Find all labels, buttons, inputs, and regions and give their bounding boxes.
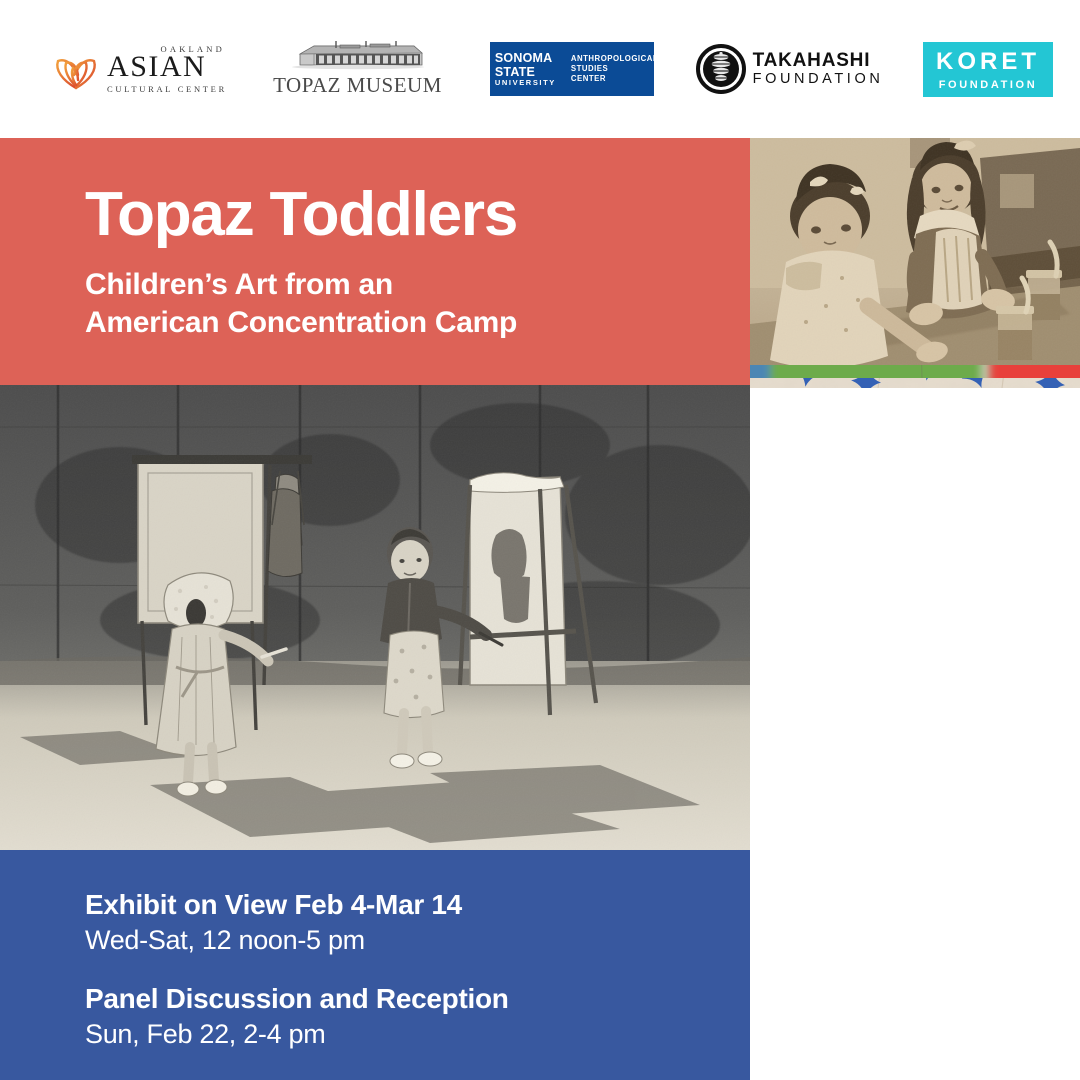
- sonoma-line-1: SONOMA: [495, 51, 556, 65]
- oacc-line-bottom: CULTURAL CENTER: [107, 85, 227, 94]
- barrack-building-icon: [288, 41, 428, 71]
- takahashi-line-2: FOUNDATION: [753, 72, 884, 87]
- exhibit-hours: Wed-Sat, 12 noon-5 pm: [85, 924, 750, 956]
- panel-time: Sun, Feb 22, 2-4 pm: [85, 1018, 750, 1050]
- logo-topaz-museum[interactable]: TOPAZ MUSEUM: [270, 37, 445, 101]
- logo-takahashi-foundation[interactable]: TAKAHASHI FOUNDATION: [702, 41, 877, 97]
- photo-two-children-finger-painting: [750, 138, 1080, 365]
- page-subtitle: Children’s Art from an American Concentr…: [85, 266, 750, 343]
- photo-two-children-painting-at-easels: [0, 385, 750, 850]
- sonoma-right-2: STUDIES: [571, 64, 658, 74]
- event-info-block: Exhibit on View Feb 4-Mar 14 Wed-Sat, 12…: [0, 850, 750, 1080]
- sonoma-right-1: ANTHROPOLOGICAL: [571, 54, 658, 64]
- koret-line-1: KORET: [936, 48, 1040, 76]
- topaz-museum-wordmark: TOPAZ MUSEUM: [273, 73, 442, 98]
- circular-pagoda-crest-icon: [696, 44, 746, 94]
- oacc-line-main: ASIAN: [107, 53, 227, 82]
- lotus-flower-icon: [49, 46, 103, 92]
- sonoma-line-3: UNIVERSITY: [495, 79, 556, 87]
- takahashi-line-1: TAKAHASHI: [753, 51, 884, 70]
- logo-koret-foundation[interactable]: KORET FOUNDATION: [923, 42, 1053, 97]
- page-title: Topaz Toddlers: [85, 184, 750, 246]
- page-subtitle-line-1: Children’s Art from an: [85, 266, 750, 304]
- logo-oakland-asian-cultural-center[interactable]: OAKLAND ASIAN CULTURAL CENTER: [48, 38, 228, 100]
- artwork-rail: [750, 138, 1080, 1080]
- sonoma-right-3: CENTER: [571, 74, 658, 84]
- poster-body: Topaz Toddlers Children’s Art from an Am…: [0, 138, 1080, 1080]
- logo-sonoma-state-university[interactable]: SONOMA STATE UNIVERSITY ANTHROPOLOGICAL …: [490, 42, 654, 96]
- exhibit-heading: Exhibit on View Feb 4-Mar 14: [85, 888, 750, 921]
- sponsor-logo-bar: OAKLAND ASIAN CULTURAL CENTER: [0, 0, 1080, 138]
- page-subtitle-line-2: American Concentration Camp: [85, 304, 750, 342]
- poster-root: OAKLAND ASIAN CULTURAL CENTER: [0, 0, 1080, 1080]
- sonoma-line-2: STATE: [495, 65, 556, 79]
- panel-heading: Panel Discussion and Reception: [85, 982, 750, 1015]
- hero-title-block: Topaz Toddlers Children’s Art from an Am…: [0, 138, 750, 385]
- koret-line-2: FOUNDATION: [939, 79, 1038, 91]
